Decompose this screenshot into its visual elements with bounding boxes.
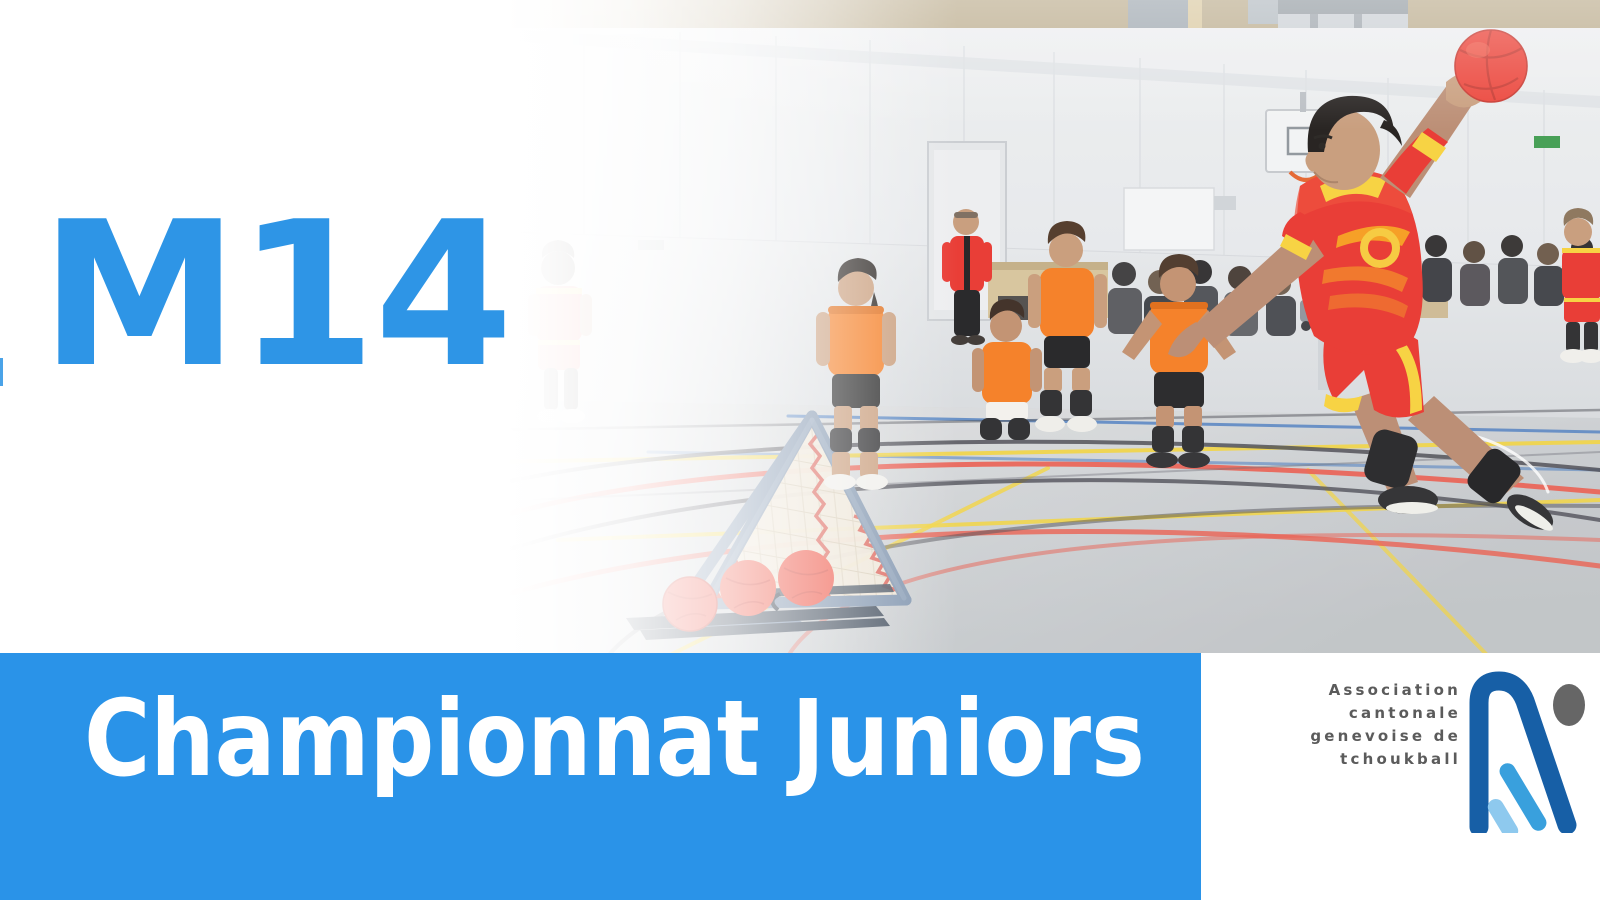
logo-mark-svg [1463,667,1591,833]
photo-illustration [488,0,1600,656]
logo-line-2: cantonale [1213,702,1461,725]
logo-wordmark: Association cantonale genevoise de tchou… [1213,679,1461,771]
match-photograph [488,0,1600,656]
logo-bar-light [1485,796,1521,833]
title-banner: Championnat Juniors [0,653,1201,900]
acgt-logo-mark [1463,667,1591,833]
category-label: M14 [40,196,460,396]
logo-line-1: Association [1213,679,1461,702]
logo-line-4: tchoukball [1213,748,1461,771]
left-white-panel: M14 [0,0,489,653]
logo-panel: Association cantonale genevoise de tchou… [1201,653,1600,900]
poster-root: M14 Championnat Juniors Association cant… [0,0,1600,900]
logo-dot [1553,684,1585,726]
edge-blue-sliver [0,358,3,386]
logo-line-3: genevoise de [1213,725,1461,748]
poster-title: Championnat Juniors [84,680,1117,798]
